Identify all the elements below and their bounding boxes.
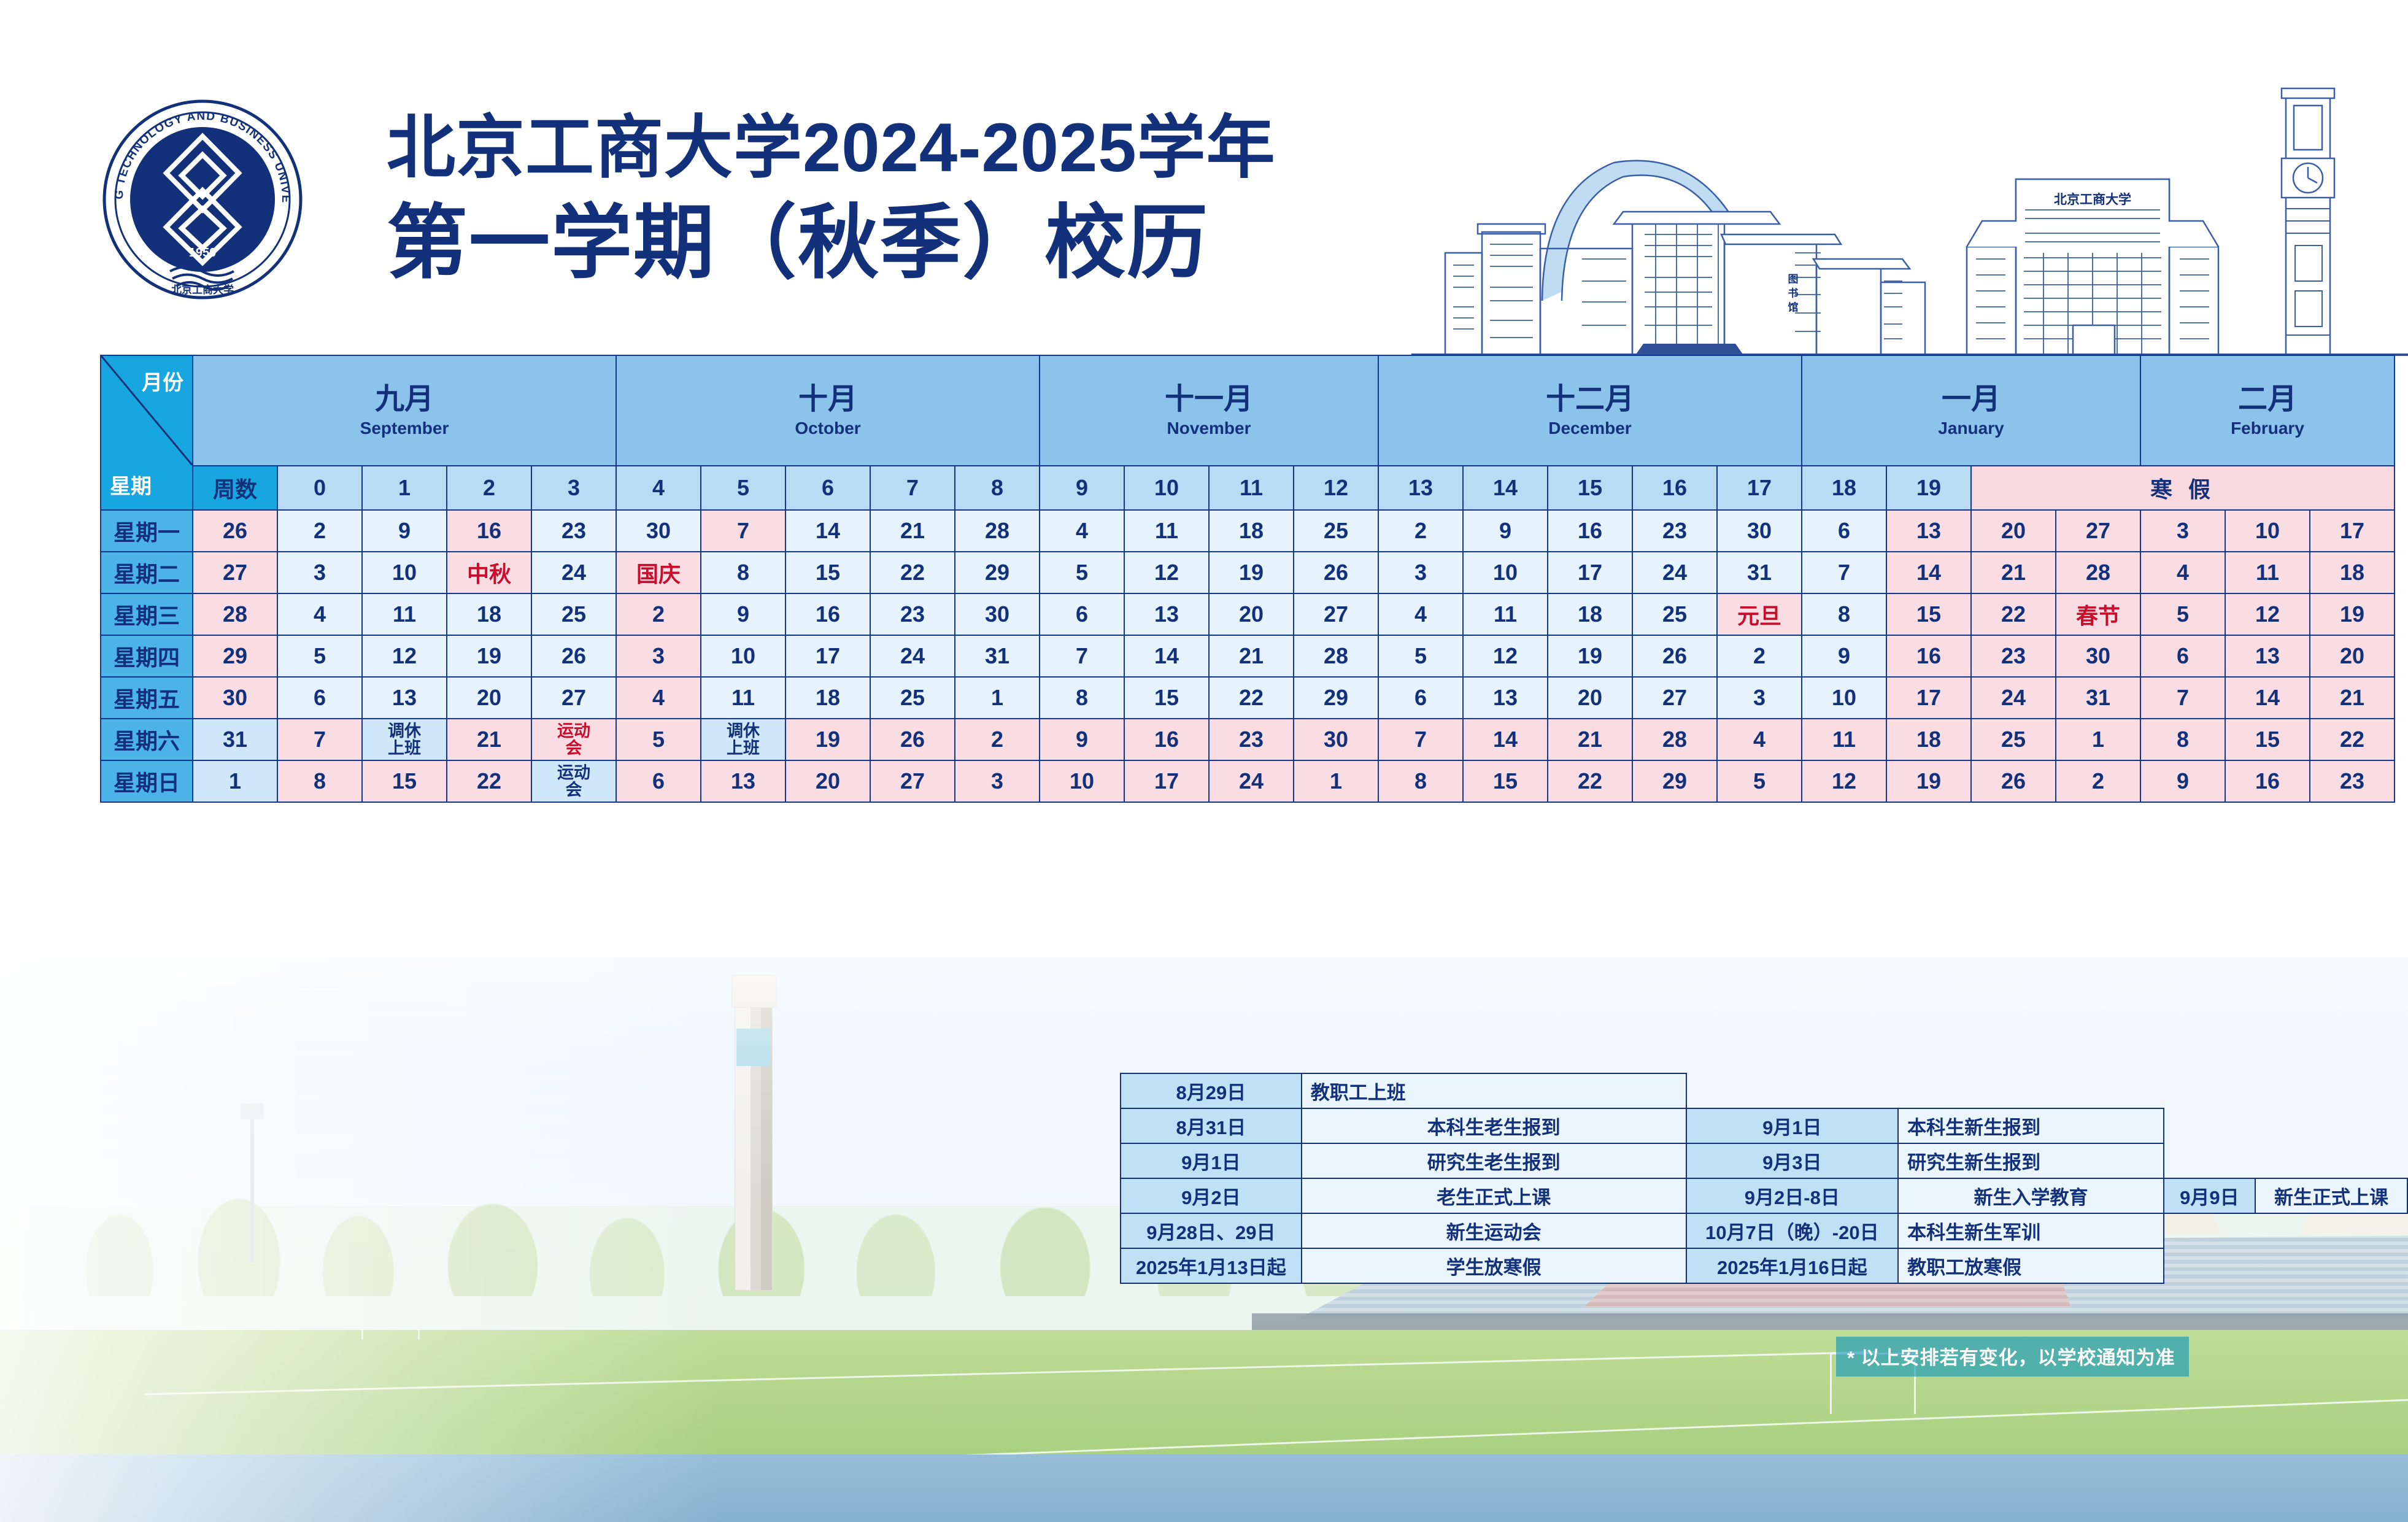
calendar-day-cell[interactable]: 11 — [701, 677, 785, 719]
calendar-day-cell[interactable]: 17 — [1124, 760, 1209, 802]
calendar-day-cell[interactable]: 17 — [1548, 552, 1632, 593]
schedule-date-cell: 9月2日 — [1121, 1178, 1302, 1213]
calendar-day-cell[interactable]: 22 — [1209, 677, 1294, 719]
calendar-day-cell[interactable]: 28 — [955, 510, 1040, 552]
day-label-1: 星期一 — [101, 510, 193, 552]
calendar-day-cell[interactable]: 19 — [447, 635, 531, 677]
calendar-day-cell[interactable]: 11 — [1802, 719, 1886, 760]
calendar-day-cell[interactable]: 20 — [1548, 677, 1632, 719]
schedule-date-cell: 8月31日 — [1121, 1108, 1302, 1143]
schedule-date-cell: 8月29日 — [1121, 1073, 1302, 1108]
calendar-day-cell[interactable]: 29 — [1294, 677, 1378, 719]
schedule-event-cell: 新生正式上课 — [2255, 1178, 2407, 1213]
day-label-3: 星期三 — [101, 593, 193, 635]
calendar-day-cell[interactable]: 21 — [870, 510, 955, 552]
calendar-day-cell[interactable]: 14 — [2225, 677, 2310, 719]
calendar-day-cell[interactable]: 25 — [870, 677, 955, 719]
calendar-day-cell[interactable]: 25 — [1632, 593, 1717, 635]
calendar-day-cell[interactable]: 24 — [1632, 552, 1717, 593]
calendar-day-cell[interactable]: 19 — [785, 719, 870, 760]
calendar-day-cell[interactable]: 3 — [277, 552, 362, 593]
calendar-day-cell[interactable]: 18 — [1548, 593, 1632, 635]
calendar-day-cell[interactable]: 20 — [2310, 635, 2394, 677]
calendar-day-cell[interactable]: 5 — [277, 635, 362, 677]
calendar-day-cell[interactable]: 26 — [531, 635, 616, 677]
calendar-day-cell[interactable]: 13 — [1463, 677, 1548, 719]
calendar-day-cell[interactable]: 30 — [1294, 719, 1378, 760]
calendar-month-row: 月份 星期 九月September十月October十一月November十二月… — [101, 355, 2394, 466]
calendar-day-cell[interactable]: 8 — [1378, 760, 1463, 802]
calendar-day-cell[interactable]: 9 — [1463, 510, 1548, 552]
month-header-february: 二月February — [2140, 355, 2394, 466]
week-number-18: 18 — [1802, 466, 1886, 510]
day-cell-note-line: 会 — [532, 781, 616, 798]
calendar-day-cell[interactable]: 24 — [1971, 677, 2056, 719]
calendar-day-cell[interactable]: 运动会 — [531, 760, 616, 802]
calendar-day-cell[interactable]: 6 — [1378, 677, 1463, 719]
schedule-info-panel: 8月29日教职工上班8月31日本科生老生报到9月1日本科生新生报到9月1日研究生… — [1120, 1073, 2408, 1284]
day-cell-note-line: 运动 — [532, 722, 616, 740]
corner-month-label: 月份 — [142, 366, 183, 396]
calendar-day-cell[interactable]: 10 — [1040, 760, 1124, 802]
calendar-day-cell[interactable]: 30 — [193, 677, 277, 719]
calendar-day-cell[interactable]: 12 — [1124, 552, 1209, 593]
calendar-day-cell[interactable]: 14 — [785, 510, 870, 552]
calendar-day-cell[interactable]: 9 — [1802, 635, 1886, 677]
schedule-date-cell: 10月7日（晚）-20日 — [1686, 1213, 1899, 1248]
calendar-day-cell[interactable]: 9 — [362, 510, 447, 552]
schedule-info-row: 9月2日老生正式上课9月2日-8日新生入学教育9月9日新生正式上课 — [1121, 1178, 2407, 1213]
month-name-cn: 十一月 — [1040, 384, 1378, 415]
calendar-weeknum-row: 周数012345678910111213141516171819寒 假 — [101, 466, 2394, 510]
calendar-day-cell[interactable]: 24 — [1209, 760, 1294, 802]
week-number-12: 12 — [1294, 466, 1378, 510]
schedule-date-cell: 9月9日 — [2164, 1178, 2255, 1213]
schedule-event-cell: 本科生新生军训 — [1898, 1213, 2164, 1248]
calendar-day-cell[interactable]: 6 — [277, 677, 362, 719]
calendar-day-cell[interactable]: 17 — [1886, 677, 1971, 719]
calendar-day-row: 星期三2841118252916233061320274111825元旦8152… — [101, 593, 2394, 635]
calendar-day-cell[interactable]: 20 — [1971, 510, 2056, 552]
calendar-day-cell[interactable]: 11 — [362, 593, 447, 635]
calendar-day-cell[interactable]: 3 — [616, 635, 701, 677]
academic-calendar: 月份 星期 九月September十月October十一月November十二月… — [100, 355, 2395, 803]
university-seal-logo: BEIJING TECHNOLOGY AND BUSINESS UNIVERSI… — [101, 98, 304, 301]
calendar-day-cell[interactable]: 16 — [1124, 719, 1209, 760]
calendar-day-cell[interactable]: 7 — [1040, 635, 1124, 677]
calendar-day-cell[interactable]: 12 — [362, 635, 447, 677]
schedule-date-cell: 9月28日、29日 — [1121, 1213, 1302, 1248]
calendar-day-cell[interactable]: 23 — [1209, 719, 1294, 760]
calendar-day-cell[interactable]: 14 — [1886, 552, 1971, 593]
day-label-2: 星期二 — [101, 552, 193, 593]
calendar-day-cell[interactable]: 25 — [1294, 510, 1378, 552]
calendar-day-cell[interactable]: 27 — [193, 552, 277, 593]
month-name-cn: 一月 — [1802, 384, 2140, 415]
month-header-november: 十一月November — [1040, 355, 1378, 466]
calendar-day-cell[interactable]: 24 — [531, 552, 616, 593]
day-cell-note-line: 会 — [532, 740, 616, 757]
month-header-october: 十月October — [616, 355, 1040, 466]
calendar-day-cell[interactable]: 6 — [1040, 593, 1124, 635]
day-label-4: 星期四 — [101, 635, 193, 677]
calendar-day-cell[interactable]: 10 — [2225, 510, 2310, 552]
calendar-day-cell[interactable]: 14 — [1463, 719, 1548, 760]
calendar-day-cell[interactable]: 4 — [1378, 593, 1463, 635]
calendar-day-cell[interactable]: 23 — [1632, 510, 1717, 552]
month-header-december: 十二月December — [1378, 355, 1802, 466]
calendar-day-cell[interactable]: 8 — [1802, 593, 1886, 635]
week-number-6: 6 — [785, 466, 870, 510]
week-number-0: 0 — [277, 466, 362, 510]
calendar-day-cell[interactable]: 13 — [1886, 510, 1971, 552]
month-header-september: 九月September — [193, 355, 616, 466]
schedule-date-cell: 9月3日 — [1686, 1143, 1899, 1178]
calendar-day-cell[interactable]: 2 — [1717, 635, 1802, 677]
calendar-day-cell[interactable]: 20 — [1209, 593, 1294, 635]
calendar-day-row: 星期日181522运动会6132027310172418152229512192… — [101, 760, 2394, 802]
calendar-day-cell[interactable]: 6 — [2140, 635, 2225, 677]
calendar-day-row: 星期六317调休上班21运动会5调休上班19262916233071421284… — [101, 719, 2394, 760]
schedule-info-row: 9月1日研究生老生报到9月3日研究生新生报到 — [1121, 1143, 2407, 1178]
calendar-day-cell[interactable]: 31 — [2056, 677, 2140, 719]
week-number-7: 7 — [870, 466, 955, 510]
calendar-day-cell[interactable]: 2 — [616, 593, 701, 635]
calendar-day-cell[interactable]: 26 — [1294, 552, 1378, 593]
schedule-event-cell: 本科生老生报到 — [1302, 1108, 1686, 1143]
schedule-date-cell: 9月1日 — [1686, 1108, 1899, 1143]
calendar-day-cell[interactable]: 8 — [277, 760, 362, 802]
calendar-day-cell[interactable]: 12 — [1802, 760, 1886, 802]
calendar-day-cell[interactable]: 20 — [447, 677, 531, 719]
calendar-day-cell[interactable]: 4 — [1040, 510, 1124, 552]
calendar-day-cell[interactable]: 1 — [193, 760, 277, 802]
calendar-day-cell[interactable]: 21 — [1209, 635, 1294, 677]
calendar-table: 月份 星期 九月September十月October十一月November十二月… — [100, 355, 2395, 803]
calendar-day-cell[interactable]: 25 — [531, 593, 616, 635]
month-name-en: November — [1040, 419, 1378, 437]
week-number-17: 17 — [1717, 466, 1802, 510]
calendar-day-cell[interactable]: 9 — [1040, 719, 1124, 760]
photo-left-fade — [0, 957, 722, 1522]
calendar-day-cell[interactable]: 11 — [2225, 552, 2310, 593]
calendar-day-cell[interactable]: 16 — [1886, 635, 1971, 677]
calendar-day-cell[interactable]: 13 — [1124, 593, 1209, 635]
calendar-day-cell[interactable]: 6 — [616, 760, 701, 802]
calendar-day-cell[interactable]: 20 — [785, 760, 870, 802]
calendar-day-cell[interactable]: 18 — [785, 677, 870, 719]
calendar-day-cell[interactable]: 8 — [1040, 677, 1124, 719]
calendar-day-cell[interactable]: 31 — [955, 635, 1040, 677]
calendar-day-cell[interactable]: 27 — [1294, 593, 1378, 635]
calendar-day-cell[interactable]: 29 — [955, 552, 1040, 593]
calendar-day-cell[interactable]: 26 — [1632, 635, 1717, 677]
day-cell-note-line: 调休 — [363, 722, 446, 740]
calendar-day-cell[interactable]: 4 — [1717, 719, 1802, 760]
calendar-day-cell[interactable]: 27 — [1632, 677, 1717, 719]
calendar-day-cell[interactable]: 8 — [2140, 719, 2225, 760]
calendar-day-cell[interactable]: 9 — [2140, 760, 2225, 802]
schedule-event-cell: 教职工放寒假 — [1898, 1248, 2164, 1283]
calendar-day-cell[interactable]: 18 — [2310, 552, 2394, 593]
week-number-1: 1 — [362, 466, 447, 510]
schedule-date-cell: 9月1日 — [1121, 1143, 1302, 1178]
calendar-day-cell[interactable]: 19 — [1886, 760, 1971, 802]
day-label-7: 星期日 — [101, 760, 193, 802]
calendar-day-cell[interactable]: 27 — [2056, 510, 2140, 552]
calendar-day-cell[interactable]: 13 — [362, 677, 447, 719]
calendar-day-cell[interactable]: 11 — [1124, 510, 1209, 552]
schedule-date-cell: 9月2日-8日 — [1686, 1178, 1899, 1213]
calendar-day-cell[interactable]: 7 — [701, 510, 785, 552]
corner-header: 月份 星期 — [101, 355, 193, 510]
week-number-9: 9 — [1040, 466, 1124, 510]
calendar-day-cell[interactable]: 19 — [1209, 552, 1294, 593]
calendar-day-cell[interactable]: 15 — [2225, 719, 2310, 760]
calendar-day-cell[interactable]: 15 — [362, 760, 447, 802]
calendar-day-cell[interactable]: 4 — [616, 677, 701, 719]
title-block: 北京工商大学2024-2025学年 第一学期（秋季）校历 — [387, 107, 1276, 292]
footnote-banner: * 以上安排若有变化，以学校通知为准 — [1836, 1337, 2189, 1377]
calendar-day-cell[interactable]: 19 — [1548, 635, 1632, 677]
day-cell-note-line: 上班 — [363, 740, 446, 757]
month-name-cn: 十月 — [617, 384, 1039, 415]
day-label-6: 星期六 — [101, 719, 193, 760]
calendar-day-cell[interactable]: 29 — [193, 635, 277, 677]
schedule-date-cell: 2025年1月16日起 — [1686, 1248, 1899, 1283]
month-name-en: December — [1379, 419, 1801, 437]
schedule-info-row: 2025年1月13日起学生放寒假2025年1月16日起教职工放寒假 — [1121, 1248, 2407, 1283]
calendar-day-cell[interactable]: 3 — [1378, 552, 1463, 593]
page-title-line1: 北京工商大学2024-2025学年 — [387, 107, 1276, 188]
calendar-day-cell[interactable]: 30 — [955, 593, 1040, 635]
calendar-day-cell[interactable]: 28 — [193, 593, 277, 635]
calendar-day-cell[interactable]: 31 — [1717, 552, 1802, 593]
calendar-day-cell[interactable]: 15 — [785, 552, 870, 593]
calendar-day-cell[interactable]: 16 — [2225, 760, 2310, 802]
calendar-day-cell[interactable]: 21 — [1971, 552, 2056, 593]
page-header: BEIJING TECHNOLOGY AND BUSINESS UNIVERSI… — [0, 0, 2408, 344]
campus-skyline-illustration: 北京工商大学 图书馆 — [1411, 37, 2408, 356]
weeknum-row-label: 周数 — [193, 466, 277, 510]
calendar-day-cell[interactable]: 31 — [193, 719, 277, 760]
calendar-day-cell[interactable]: 17 — [785, 635, 870, 677]
calendar-day-cell[interactable]: 10 — [362, 552, 447, 593]
week-number-11: 11 — [1209, 466, 1294, 510]
schedule-event-cell: 本科生新生报到 — [1898, 1108, 2164, 1143]
calendar-day-cell[interactable]: 18 — [1886, 719, 1971, 760]
page-title-line2: 第一学期（秋季）校历 — [387, 193, 1276, 292]
calendar-day-cell[interactable]: 中秋 — [447, 552, 531, 593]
month-name-en: February — [2141, 419, 2394, 437]
calendar-day-cell[interactable]: 15 — [1886, 593, 1971, 635]
calendar-day-cell[interactable]: 22 — [447, 760, 531, 802]
calendar-day-cell[interactable]: 13 — [2225, 635, 2310, 677]
calendar-day-cell[interactable]: 14 — [1124, 635, 1209, 677]
calendar-day-cell[interactable]: 27 — [531, 677, 616, 719]
week-number-3: 3 — [531, 466, 616, 510]
calendar-day-cell[interactable]: 26 — [193, 510, 277, 552]
calendar-day-row: 星期二27310中秋24国庆81522295121926310172431714… — [101, 552, 2394, 593]
calendar-day-cell[interactable]: 23 — [870, 593, 955, 635]
calendar-day-cell[interactable]: 2 — [2056, 760, 2140, 802]
month-name-cn: 二月 — [2141, 384, 2394, 415]
calendar-day-cell[interactable]: 28 — [1632, 719, 1717, 760]
corner-week-label: 星期 — [110, 469, 152, 500]
week-number-15: 15 — [1548, 466, 1632, 510]
calendar-day-cell[interactable]: 15 — [1463, 760, 1548, 802]
calendar-day-cell[interactable]: 5 — [1717, 760, 1802, 802]
calendar-day-cell[interactable]: 25 — [1971, 719, 2056, 760]
skyline-library-label: 图书馆 — [1786, 273, 1799, 315]
calendar-day-cell[interactable]: 12 — [2225, 593, 2310, 635]
seal-cn-name: 北京工商大学 — [171, 284, 234, 296]
week-number-10: 10 — [1124, 466, 1209, 510]
week-number-13: 13 — [1378, 466, 1463, 510]
calendar-day-cell[interactable]: 1 — [955, 677, 1040, 719]
calendar-day-cell[interactable]: 22 — [1971, 593, 2056, 635]
day-cell-note-line: 调休 — [701, 722, 785, 740]
calendar-day-cell[interactable]: 1 — [2056, 719, 2140, 760]
calendar-day-cell[interactable]: 22 — [1548, 760, 1632, 802]
calendar-day-cell[interactable]: 21 — [1548, 719, 1632, 760]
schedule-info-row: 8月29日教职工上班 — [1121, 1073, 2407, 1108]
calendar-day-cell[interactable]: 18 — [1209, 510, 1294, 552]
calendar-day-cell[interactable]: 16 — [1548, 510, 1632, 552]
week-number-2: 2 — [447, 466, 531, 510]
schedule-event-cell: 研究生新生报到 — [1898, 1143, 2164, 1178]
day-cell-note-line: 运动 — [532, 764, 616, 781]
calendar-day-cell[interactable]: 7 — [277, 719, 362, 760]
calendar-day-cell[interactable]: 10 — [701, 635, 785, 677]
month-header-january: 一月January — [1802, 355, 2140, 466]
calendar-day-cell[interactable]: 17 — [2310, 510, 2394, 552]
week-number-14: 14 — [1463, 466, 1548, 510]
skyline-building-label: 北京工商大学 — [2054, 192, 2131, 207]
calendar-day-cell[interactable]: 7 — [1378, 719, 1463, 760]
day-cell-note-line: 上班 — [701, 740, 785, 757]
month-name-en: January — [1802, 419, 2140, 437]
calendar-day-cell[interactable]: 2 — [955, 719, 1040, 760]
schedule-event-cell: 新生运动会 — [1302, 1213, 1686, 1248]
calendar-day-cell[interactable]: 3 — [2140, 510, 2225, 552]
calendar-day-cell[interactable]: 运动会 — [531, 719, 616, 760]
calendar-day-cell[interactable]: 28 — [2056, 552, 2140, 593]
calendar-day-cell[interactable]: 4 — [2140, 552, 2225, 593]
calendar-day-cell[interactable]: 5 — [2140, 593, 2225, 635]
calendar-day-cell[interactable]: 8 — [701, 552, 785, 593]
calendar-day-cell[interactable]: 3 — [955, 760, 1040, 802]
calendar-day-row: 星期四2951219263101724317142128512192629162… — [101, 635, 2394, 677]
calendar-day-cell[interactable]: 3 — [1717, 677, 1802, 719]
calendar-day-cell[interactable]: 7 — [2140, 677, 2225, 719]
schedule-date-cell: 2025年1月13日起 — [1121, 1248, 1302, 1283]
calendar-day-cell[interactable]: 12 — [1463, 635, 1548, 677]
schedule-event-cell: 学生放寒假 — [1302, 1248, 1686, 1283]
calendar-day-cell[interactable]: 10 — [1802, 677, 1886, 719]
winter-break-header: 寒 假 — [1971, 466, 2394, 510]
calendar-day-cell[interactable]: 国庆 — [616, 552, 701, 593]
month-name-en: October — [617, 419, 1039, 437]
calendar-day-cell[interactable]: 6 — [1802, 510, 1886, 552]
calendar-day-cell[interactable]: 21 — [447, 719, 531, 760]
calendar-day-cell[interactable]: 2 — [277, 510, 362, 552]
calendar-day-cell[interactable]: 28 — [1294, 635, 1378, 677]
calendar-day-cell[interactable]: 30 — [2056, 635, 2140, 677]
calendar-day-cell[interactable]: 春节 — [2056, 593, 2140, 635]
schedule-info-row: 8月31日本科生老生报到9月1日本科生新生报到 — [1121, 1108, 2407, 1143]
seal-year: 1950 — [189, 246, 217, 260]
schedule-event-cell: 新生入学教育 — [1898, 1178, 2164, 1213]
week-number-19: 19 — [1886, 466, 1971, 510]
calendar-day-cell[interactable]: 5 — [616, 719, 701, 760]
calendar-day-cell[interactable]: 11 — [1463, 593, 1548, 635]
month-name-cn: 十二月 — [1379, 384, 1801, 415]
calendar-day-cell[interactable]: 30 — [1717, 510, 1802, 552]
calendar-day-cell[interactable]: 30 — [616, 510, 701, 552]
calendar-day-cell[interactable]: 22 — [2310, 719, 2394, 760]
calendar-day-row: 星期一2629162330714212841118252916233061320… — [101, 510, 2394, 552]
calendar-day-cell[interactable]: 5 — [1040, 552, 1124, 593]
calendar-day-cell[interactable]: 24 — [870, 635, 955, 677]
calendar-day-cell[interactable]: 27 — [870, 760, 955, 802]
calendar-day-cell[interactable]: 调休上班 — [362, 719, 447, 760]
schedule-info-table: 8月29日教职工上班8月31日本科生老生报到9月1日本科生新生报到9月1日研究生… — [1120, 1073, 2408, 1284]
calendar-day-cell[interactable]: 9 — [701, 593, 785, 635]
calendar-day-cell[interactable]: 16 — [785, 593, 870, 635]
calendar-day-cell[interactable]: 15 — [1124, 677, 1209, 719]
month-name-cn: 九月 — [193, 384, 616, 415]
calendar-day-cell[interactable]: 23 — [531, 510, 616, 552]
calendar-day-cell[interactable]: 18 — [447, 593, 531, 635]
calendar-day-cell[interactable]: 23 — [1971, 635, 2056, 677]
calendar-day-cell[interactable]: 2 — [1378, 510, 1463, 552]
calendar-day-cell[interactable]: 29 — [1632, 760, 1717, 802]
schedule-event-cell: 老生正式上课 — [1302, 1178, 1686, 1213]
week-number-8: 8 — [955, 466, 1040, 510]
calendar-day-cell[interactable]: 1 — [1294, 760, 1378, 802]
calendar-day-cell[interactable]: 4 — [277, 593, 362, 635]
calendar-day-cell[interactable]: 13 — [701, 760, 785, 802]
calendar-day-cell[interactable]: 22 — [870, 552, 955, 593]
week-number-5: 5 — [701, 466, 785, 510]
schedule-info-row: 9月28日、29日新生运动会10月7日（晚）-20日本科生新生军训 — [1121, 1213, 2407, 1248]
calendar-day-row: 星期五3061320274111825181522296132027310172… — [101, 677, 2394, 719]
calendar-day-cell[interactable]: 26 — [1971, 760, 2056, 802]
calendar-day-cell[interactable]: 7 — [1802, 552, 1886, 593]
calendar-day-cell[interactable]: 10 — [1463, 552, 1548, 593]
calendar-day-cell[interactable]: 21 — [2310, 677, 2394, 719]
calendar-day-cell[interactable]: 19 — [2310, 593, 2394, 635]
calendar-day-cell[interactable]: 26 — [870, 719, 955, 760]
day-label-5: 星期五 — [101, 677, 193, 719]
calendar-day-cell[interactable]: 16 — [447, 510, 531, 552]
calendar-day-cell[interactable]: 调休上班 — [701, 719, 785, 760]
schedule-event-cell: 研究生老生报到 — [1302, 1143, 1686, 1178]
calendar-day-cell[interactable]: 5 — [1378, 635, 1463, 677]
calendar-day-cell[interactable]: 元旦 — [1717, 593, 1802, 635]
week-number-16: 16 — [1632, 466, 1717, 510]
month-name-en: September — [193, 419, 616, 437]
calendar-day-cell[interactable]: 23 — [2310, 760, 2394, 802]
schedule-event-cell: 教职工上班 — [1302, 1073, 1686, 1108]
week-number-4: 4 — [616, 466, 701, 510]
